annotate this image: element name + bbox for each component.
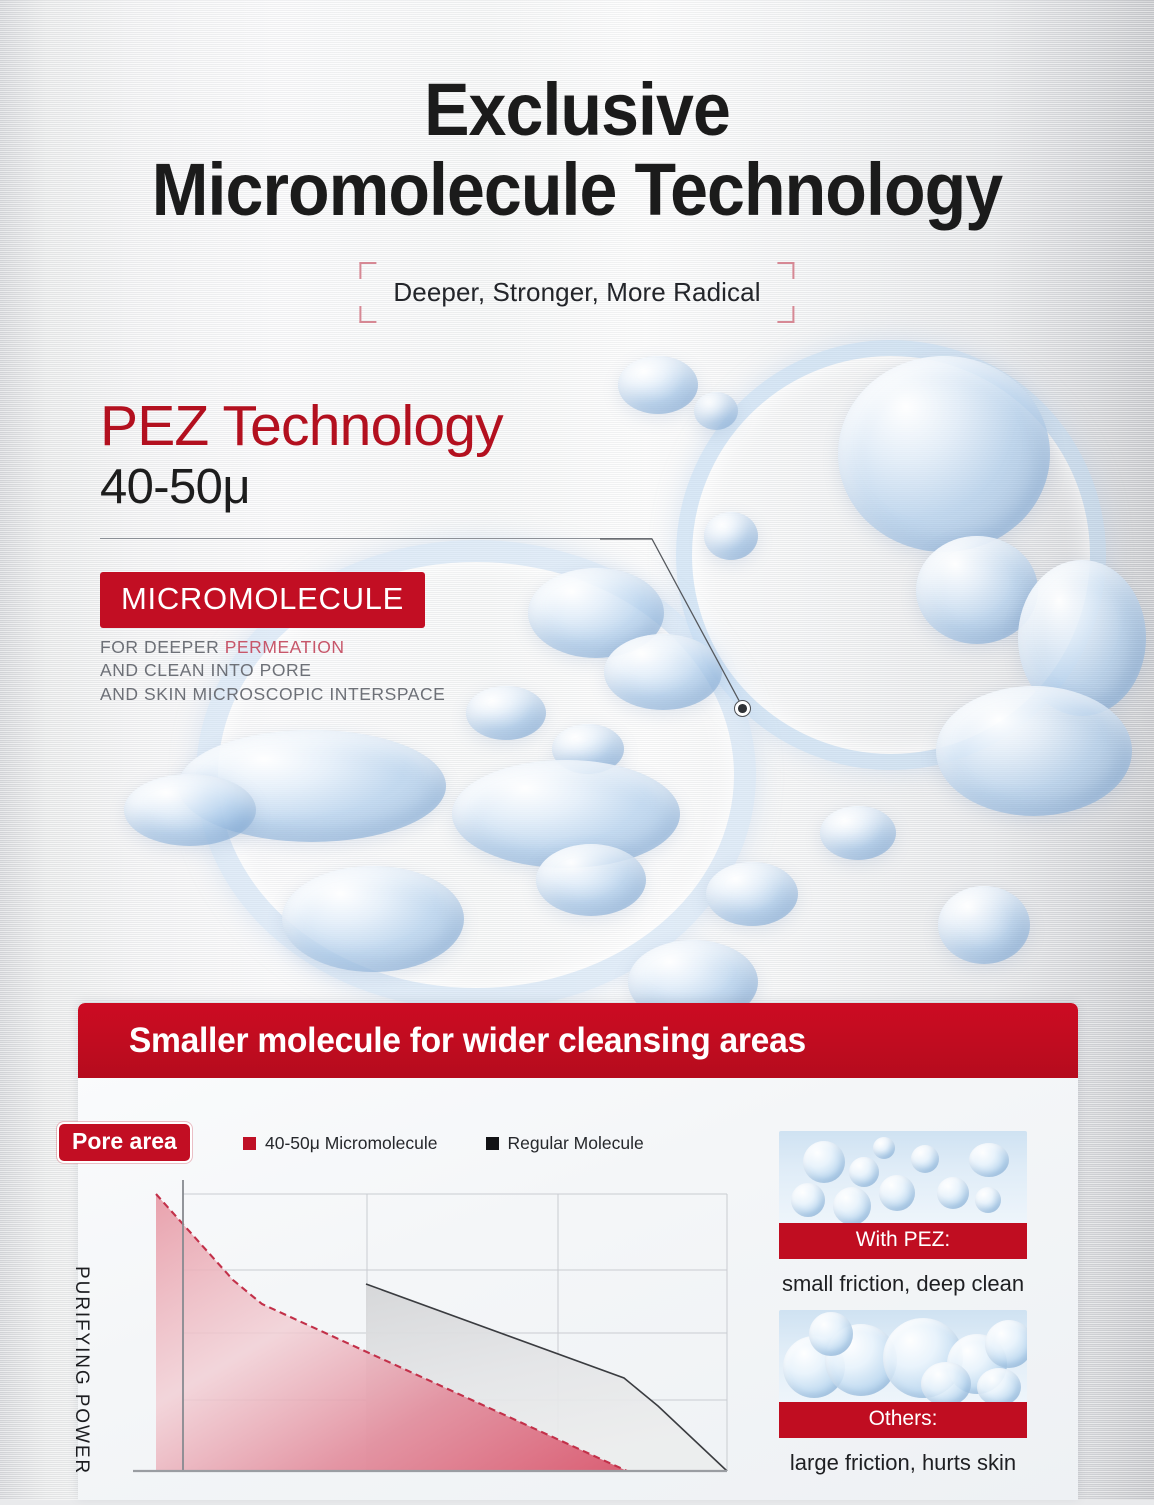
legend-swatch-red-icon (243, 1137, 256, 1150)
legend-label-regular: Regular Molecule (508, 1133, 644, 1154)
page-title: Exclusive Micromolecule Technology (0, 74, 1154, 226)
description-line-3: AND SKIN MICROSCOPIC INTERSPACE (100, 683, 445, 706)
purifying-power-chart: PURIFYING POWER (78, 1170, 758, 1500)
legend-item-micromolecule: 40-50μ Micromolecule (243, 1133, 438, 1154)
pore-area-badge: Pore area (57, 1122, 192, 1163)
bracket-corner-bottom-right-icon (778, 306, 795, 323)
legend-label-micromolecule: 40-50μ Micromolecule (265, 1133, 438, 1154)
legend-swatch-black-icon (486, 1137, 499, 1150)
subtitle-bracket-frame: Deeper, Stronger, More Radical (359, 262, 794, 323)
large-bubbles-photo (779, 1310, 1027, 1402)
comparison-description-with-pez: small friction, deep clean (744, 1271, 1062, 1297)
bracket-corner-top-right-icon (778, 262, 795, 279)
horizontal-divider (100, 538, 652, 539)
chart-y-axis-label: PURIFYING POWER (70, 1266, 92, 1475)
title-line-2: Micromolecule Technology (46, 154, 1108, 227)
panel-banner: Smaller molecule for wider cleansing are… (78, 1003, 1078, 1078)
pez-technology-title: PEZ Technology (100, 396, 670, 456)
bracket-corner-top-left-icon (359, 262, 376, 279)
desc-highlight-permeation: PERMEATION (225, 637, 345, 657)
bracket-corner-bottom-left-icon (359, 306, 376, 323)
legend-item-regular: Regular Molecule (486, 1133, 644, 1154)
comparison-caption-with-pez: With PEZ: (779, 1223, 1027, 1259)
chart-plot-area (78, 1170, 758, 1500)
comparison-caption-others: Others: (779, 1402, 1027, 1438)
small-bubbles-photo (779, 1131, 1027, 1223)
description-line-2: AND CLEAN INTO PORE (100, 659, 445, 682)
desc-prefix: FOR DEEPER (100, 637, 225, 657)
comparison-card-with-pez: With PEZ: small friction, deep clean (779, 1131, 1027, 1297)
chart-legend: 40-50μ Micromolecule Regular Molecule (243, 1133, 644, 1154)
description-line-1: FOR DEEPER PERMEATION (100, 636, 445, 659)
pez-feature-block: PEZ Technology 40-50μ (100, 396, 670, 515)
molecule-size-value: 40-50μ (100, 459, 670, 515)
comparison-card-others: Others: large friction, hurts skin (779, 1310, 1027, 1476)
callout-target-dot-icon (734, 700, 751, 717)
panel-banner-title: Smaller molecule for wider cleansing are… (78, 1021, 806, 1061)
subtitle-text: Deeper, Stronger, More Radical (393, 277, 760, 308)
callout-leader-line (600, 520, 820, 730)
title-line-1: Exclusive (46, 74, 1108, 147)
comparison-description-others: large friction, hurts skin (744, 1450, 1062, 1476)
micromolecule-description: FOR DEEPER PERMEATION AND CLEAN INTO POR… (100, 636, 445, 706)
micromolecule-badge: MICROMOLECULE (100, 572, 425, 628)
